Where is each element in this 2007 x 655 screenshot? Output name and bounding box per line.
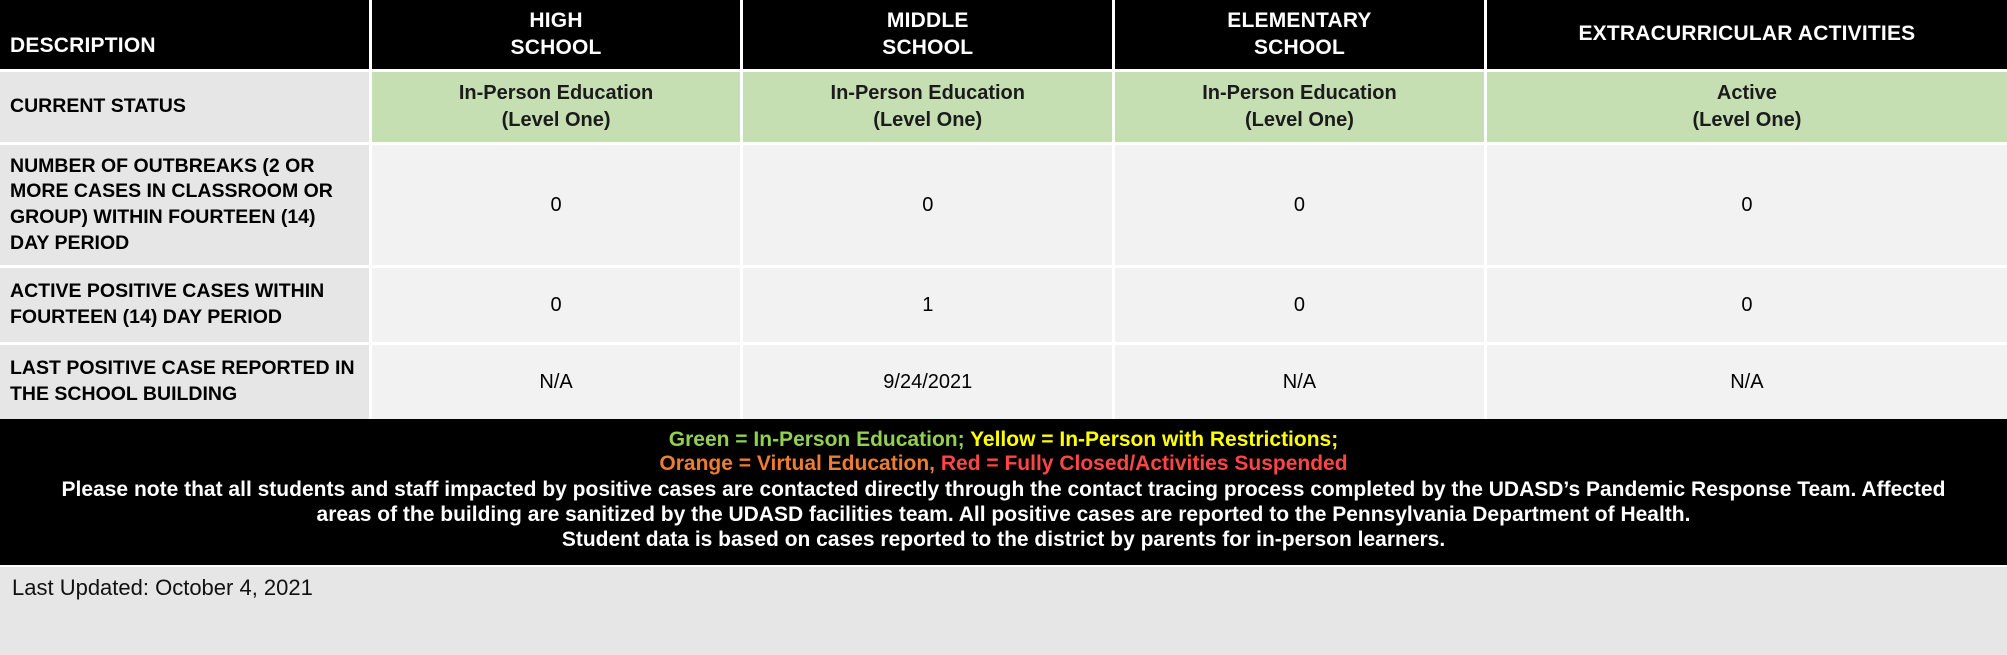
column-header-middle-school-line2: SCHOOL	[743, 35, 1112, 62]
status-badge-elementary-school-line2: (Level One)	[1121, 107, 1478, 134]
value-outbreaks-high-school: 0	[372, 145, 744, 268]
legend-green-label: Green = In-Person Education;	[669, 428, 965, 451]
table-row-current-status: CURRENT STATUS In-Person Education (Leve…	[0, 72, 2007, 145]
column-header-description-line1: DESCRIPTION	[10, 33, 369, 60]
legend-line-2: Orange = Virtual Education, Red = Fully …	[0, 452, 2007, 476]
value-active-cases-middle-school: 1	[743, 268, 1115, 345]
table-row-active-positive-cases: ACTIVE POSITIVE CASES WITHIN FOURTEEN (1…	[0, 268, 2007, 345]
status-badge-elementary-school: In-Person Education (Level One)	[1115, 72, 1487, 145]
status-badge-middle-school: In-Person Education (Level One)	[743, 72, 1115, 145]
status-badge-high-school-line1: In-Person Education	[378, 80, 735, 107]
value-outbreaks-extracurricular-activities: 0	[1487, 145, 2007, 268]
table-body: CURRENT STATUS In-Person Education (Leve…	[0, 72, 2007, 419]
value-last-case-elementary-school: N/A	[1115, 345, 1487, 419]
value-active-cases-extracurricular-activities: 0	[1487, 268, 2007, 345]
row-label-number-of-outbreaks: NUMBER OF OUTBREAKS (2 OR MORE CASES IN …	[0, 145, 372, 268]
value-active-cases-elementary-school: 0	[1115, 268, 1487, 345]
school-status-table: DESCRIPTION HIGH SCHOOL MIDDLE SCHOOL EL…	[0, 0, 2007, 419]
table-header-row: DESCRIPTION HIGH SCHOOL MIDDLE SCHOOL EL…	[0, 0, 2007, 72]
table-row-number-of-outbreaks: NUMBER OF OUTBREAKS (2 OR MORE CASES IN …	[0, 145, 2007, 268]
status-badge-elementary-school-line1: In-Person Education	[1121, 80, 1478, 107]
disclaimer-note-line-3: Student data is based on cases reported …	[18, 528, 1989, 553]
value-last-case-high-school: N/A	[372, 345, 744, 419]
legend-line-1: Green = In-Person Education; Yellow = In…	[0, 428, 2007, 452]
value-active-cases-high-school: 0	[372, 268, 744, 345]
row-label-active-positive-cases: ACTIVE POSITIVE CASES WITHIN FOURTEEN (1…	[0, 268, 372, 345]
covid-status-dashboard: DESCRIPTION HIGH SCHOOL MIDDLE SCHOOL EL…	[0, 0, 2007, 655]
column-header-high-school: HIGH SCHOOL	[372, 0, 744, 72]
column-header-elementary-school: ELEMENTARY SCHOOL	[1115, 0, 1487, 72]
value-last-case-middle-school: 9/24/2021	[743, 345, 1115, 419]
column-header-elementary-school-line2: SCHOOL	[1115, 35, 1484, 62]
last-updated-bar: Last Updated: October 4, 2021	[0, 565, 2007, 655]
disclaimer-note-line-2: areas of the building are sanitized by t…	[18, 503, 1989, 528]
column-header-high-school-line2: SCHOOL	[372, 35, 741, 62]
status-badge-extracurricular-activities-line1: Active	[1493, 80, 2001, 107]
row-label-current-status: CURRENT STATUS	[0, 72, 372, 145]
column-header-description: DESCRIPTION	[0, 0, 372, 72]
disclaimer-note: Please note that all students and staff …	[0, 476, 2007, 552]
value-last-case-extracurricular-activities: N/A	[1487, 345, 2007, 419]
column-header-elementary-school-line1: ELEMENTARY	[1115, 8, 1484, 35]
value-outbreaks-elementary-school: 0	[1115, 145, 1487, 268]
column-header-high-school-line1: HIGH	[372, 8, 741, 35]
table-row-last-positive-case: LAST POSITIVE CASE REPORTED IN THE SCHOO…	[0, 345, 2007, 419]
status-badge-middle-school-line1: In-Person Education	[749, 80, 1106, 107]
status-badge-high-school: In-Person Education (Level One)	[372, 72, 744, 145]
legend-and-note-block: Green = In-Person Education; Yellow = In…	[0, 419, 2007, 565]
status-badge-high-school-line2: (Level One)	[378, 107, 735, 134]
column-header-extracurricular-activities-line1: EXTRACURRICULAR ACTIVITIES	[1487, 21, 2007, 48]
status-badge-extracurricular-activities: Active (Level One)	[1487, 72, 2007, 145]
legend-yellow-label: Yellow = In-Person with Restrictions;	[970, 428, 1338, 451]
table-header: DESCRIPTION HIGH SCHOOL MIDDLE SCHOOL EL…	[0, 0, 2007, 72]
column-header-extracurricular-activities: EXTRACURRICULAR ACTIVITIES	[1487, 0, 2007, 72]
column-header-middle-school: MIDDLE SCHOOL	[743, 0, 1115, 72]
status-badge-extracurricular-activities-line2: (Level One)	[1493, 107, 2001, 134]
disclaimer-note-line-1: Please note that all students and staff …	[18, 478, 1989, 503]
row-label-last-positive-case: LAST POSITIVE CASE REPORTED IN THE SCHOO…	[0, 345, 372, 419]
column-header-middle-school-line1: MIDDLE	[743, 8, 1112, 35]
status-badge-middle-school-line2: (Level One)	[749, 107, 1106, 134]
value-outbreaks-middle-school: 0	[743, 145, 1115, 268]
legend-red-label: Red = Fully Closed/Activities Suspended	[941, 452, 1348, 475]
legend-orange-label: Orange = Virtual Education,	[659, 452, 935, 475]
last-updated-text: Last Updated: October 4, 2021	[12, 576, 313, 600]
